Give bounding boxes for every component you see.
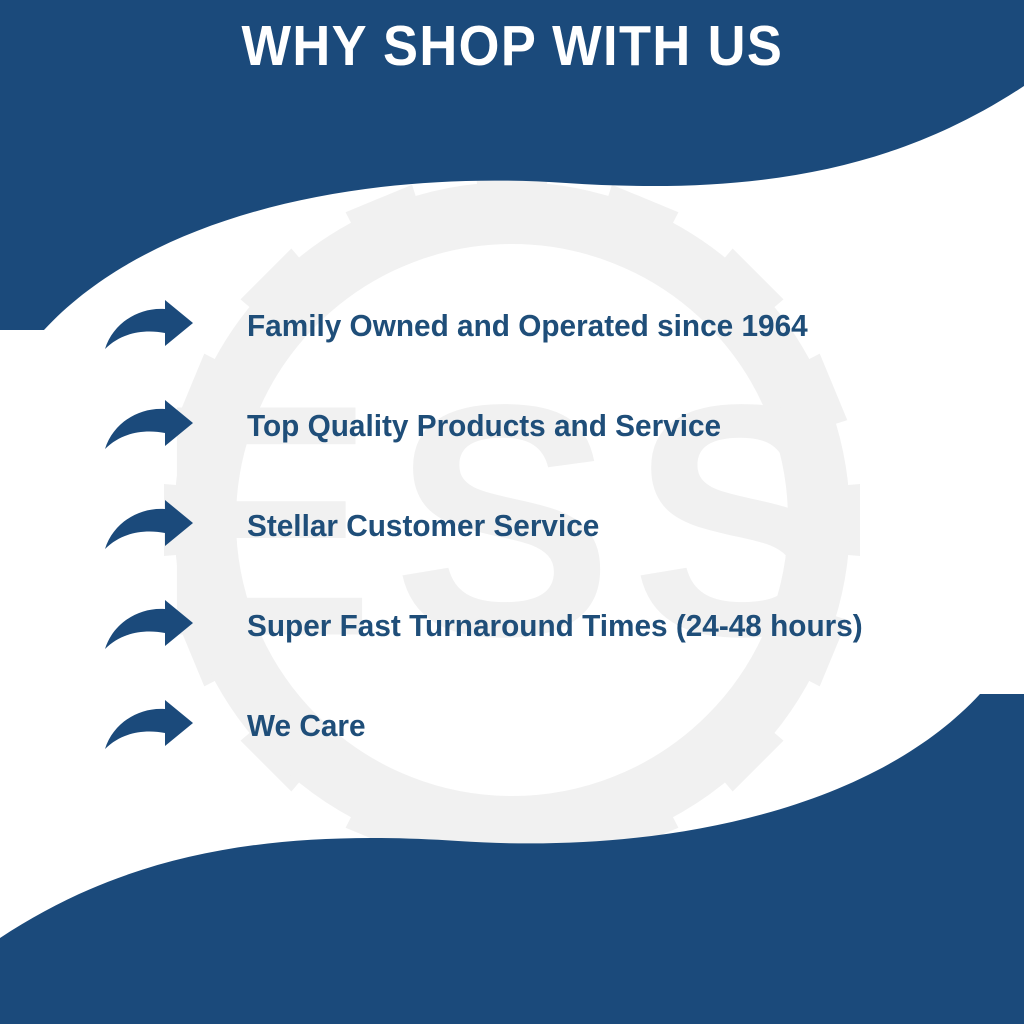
top-swoosh (24, 72, 1010, 272)
benefit-row: Top Quality Products and Service (0, 376, 1024, 476)
bottom-swoosh (14, 752, 1000, 952)
benefit-label: Super Fast Turnaround Times (24-48 hours… (247, 609, 863, 643)
benefit-row: Family Owned and Operated since 1964 (0, 276, 1024, 376)
benefit-label: Family Owned and Operated since 1964 (247, 309, 808, 343)
curved-arrow-right-icon (103, 499, 195, 553)
benefit-label: We Care (247, 709, 366, 743)
curved-arrow-right-icon (103, 299, 195, 353)
benefit-label: Stellar Customer Service (247, 509, 599, 543)
page-title: WHY SHOP WITH US (241, 18, 783, 75)
benefits-list: Family Owned and Operated since 1964 Top… (0, 276, 1024, 776)
benefit-label: Top Quality Products and Service (247, 409, 721, 443)
curved-arrow-right-icon (103, 599, 195, 653)
benefit-row: Super Fast Turnaround Times (24-48 hours… (0, 576, 1024, 676)
header-title-bar: WHY SHOP WITH US (0, 0, 1024, 92)
benefit-row: We Care (0, 676, 1024, 776)
why-shop-with-us-banner: ESS WHY SHOP WITH US Family Owned and Op… (0, 0, 1024, 1024)
curved-arrow-right-icon (103, 399, 195, 453)
curved-arrow-right-icon (103, 699, 195, 753)
benefit-row: Stellar Customer Service (0, 476, 1024, 576)
